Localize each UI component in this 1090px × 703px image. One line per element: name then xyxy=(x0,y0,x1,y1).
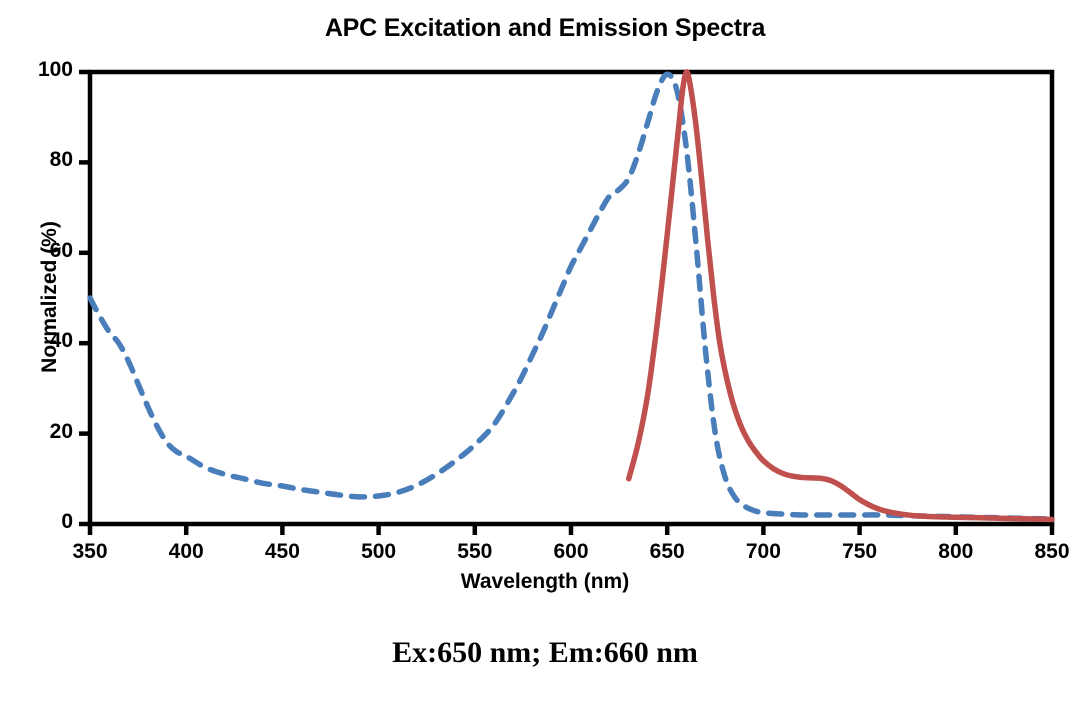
plot-area xyxy=(0,0,1090,703)
x-tick-label: 350 xyxy=(50,540,130,564)
y-tick-label: 20 xyxy=(13,420,73,444)
y-tick-label: 0 xyxy=(13,510,73,534)
x-tick-label: 400 xyxy=(146,540,226,564)
plot-frame xyxy=(90,72,1052,524)
spectra-figure: APC Excitation and Emission Spectra Norm… xyxy=(0,0,1090,703)
x-tick-label: 600 xyxy=(531,540,611,564)
y-tick-label: 60 xyxy=(13,239,73,263)
x-tick-label: 700 xyxy=(723,540,803,564)
y-tick-label: 100 xyxy=(13,58,73,82)
x-tick-label: 800 xyxy=(916,540,996,564)
y-tick-label: 80 xyxy=(13,148,73,172)
y-tick-label: 40 xyxy=(13,329,73,353)
x-tick-label: 650 xyxy=(627,540,707,564)
figure-caption: Ex:650 nm; Em:660 nm xyxy=(0,636,1090,670)
x-tick-label: 550 xyxy=(435,540,515,564)
series-line-excitation xyxy=(90,74,1052,519)
x-tick-label: 850 xyxy=(1012,540,1090,564)
x-tick-label: 450 xyxy=(242,540,322,564)
x-tick-label: 750 xyxy=(820,540,900,564)
series-line-emission xyxy=(629,72,1052,520)
x-tick-label: 500 xyxy=(339,540,419,564)
